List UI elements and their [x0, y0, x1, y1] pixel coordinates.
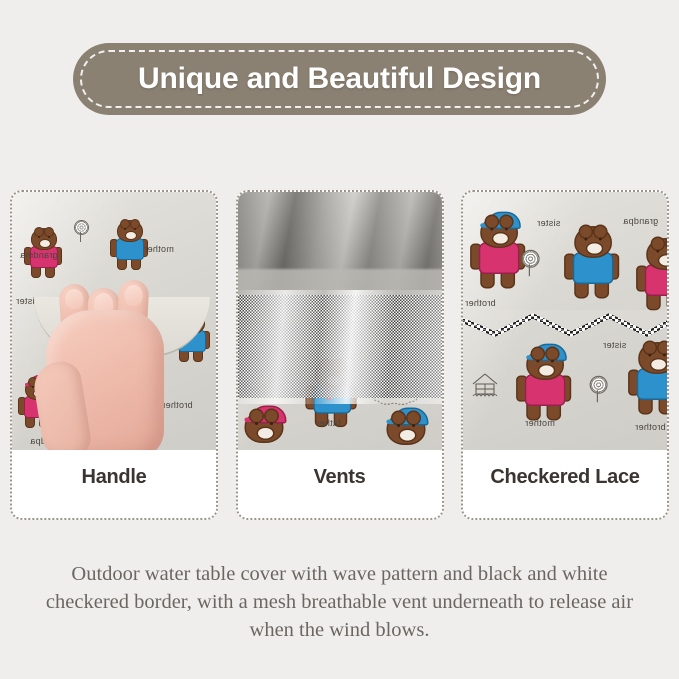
bear-head-icon	[246, 410, 280, 450]
feature-card-checkered-lace[interactable]: sister grandpa brother	[461, 190, 669, 520]
feature-card-handle[interactable]: grandma mother sister brother grandpa	[10, 190, 218, 520]
header-pill: Unique and Beautiful Design	[73, 43, 606, 115]
feature-card-vents[interactable]: I ❤ bear father Vents	[236, 190, 444, 520]
card-label-checkered-lace: Checkered Lace	[463, 450, 667, 518]
fabric-label: grandma	[20, 250, 58, 260]
card-label-text: Checkered Lace	[490, 466, 639, 503]
bear-figure-icon	[112, 220, 146, 268]
lollipop-icon	[522, 250, 539, 276]
fabric-label: brother	[465, 298, 496, 308]
fabric-label: brother	[635, 422, 666, 432]
checkered-lace-edge	[463, 310, 667, 340]
feature-cards-row: grandma mother sister brother grandpa	[10, 190, 669, 520]
bear-figure-icon	[639, 238, 667, 308]
fabric-label: mother	[144, 244, 174, 254]
checkered-lace-photo: sister grandpa brother	[463, 192, 667, 450]
fabric-label: sister	[537, 218, 560, 228]
fabric-label: father	[316, 418, 341, 428]
fabric-label: sister	[603, 340, 626, 350]
mesh-texture	[238, 295, 442, 398]
card-label-text: Vents	[314, 466, 366, 503]
page-title: Unique and Beautiful Design	[138, 62, 541, 96]
bear-figure-icon	[519, 348, 568, 418]
fabric-label: brother	[162, 400, 193, 410]
bear-head-icon	[388, 412, 422, 450]
card-label-vents: Vents	[238, 450, 442, 518]
bear-figure-icon	[473, 216, 522, 286]
product-description: Outdoor water table cover with wave patt…	[40, 560, 639, 644]
fabric-label: grandpa	[623, 216, 658, 226]
lollipop-icon	[590, 376, 607, 402]
hand-holding-handle-photo: grandma mother sister brother grandpa	[12, 192, 216, 450]
bear-figure-icon	[631, 342, 667, 412]
house-icon	[471, 372, 497, 396]
card-label-handle: Handle	[12, 450, 216, 518]
card-label-text: Handle	[82, 466, 147, 503]
header-banner: Unique and Beautiful Design	[0, 43, 679, 115]
bear-figure-icon	[567, 226, 616, 296]
mesh-vent-photo: I ❤ bear father	[238, 192, 442, 450]
lollipop-icon	[74, 220, 88, 242]
fabric-label: mother	[525, 418, 555, 428]
